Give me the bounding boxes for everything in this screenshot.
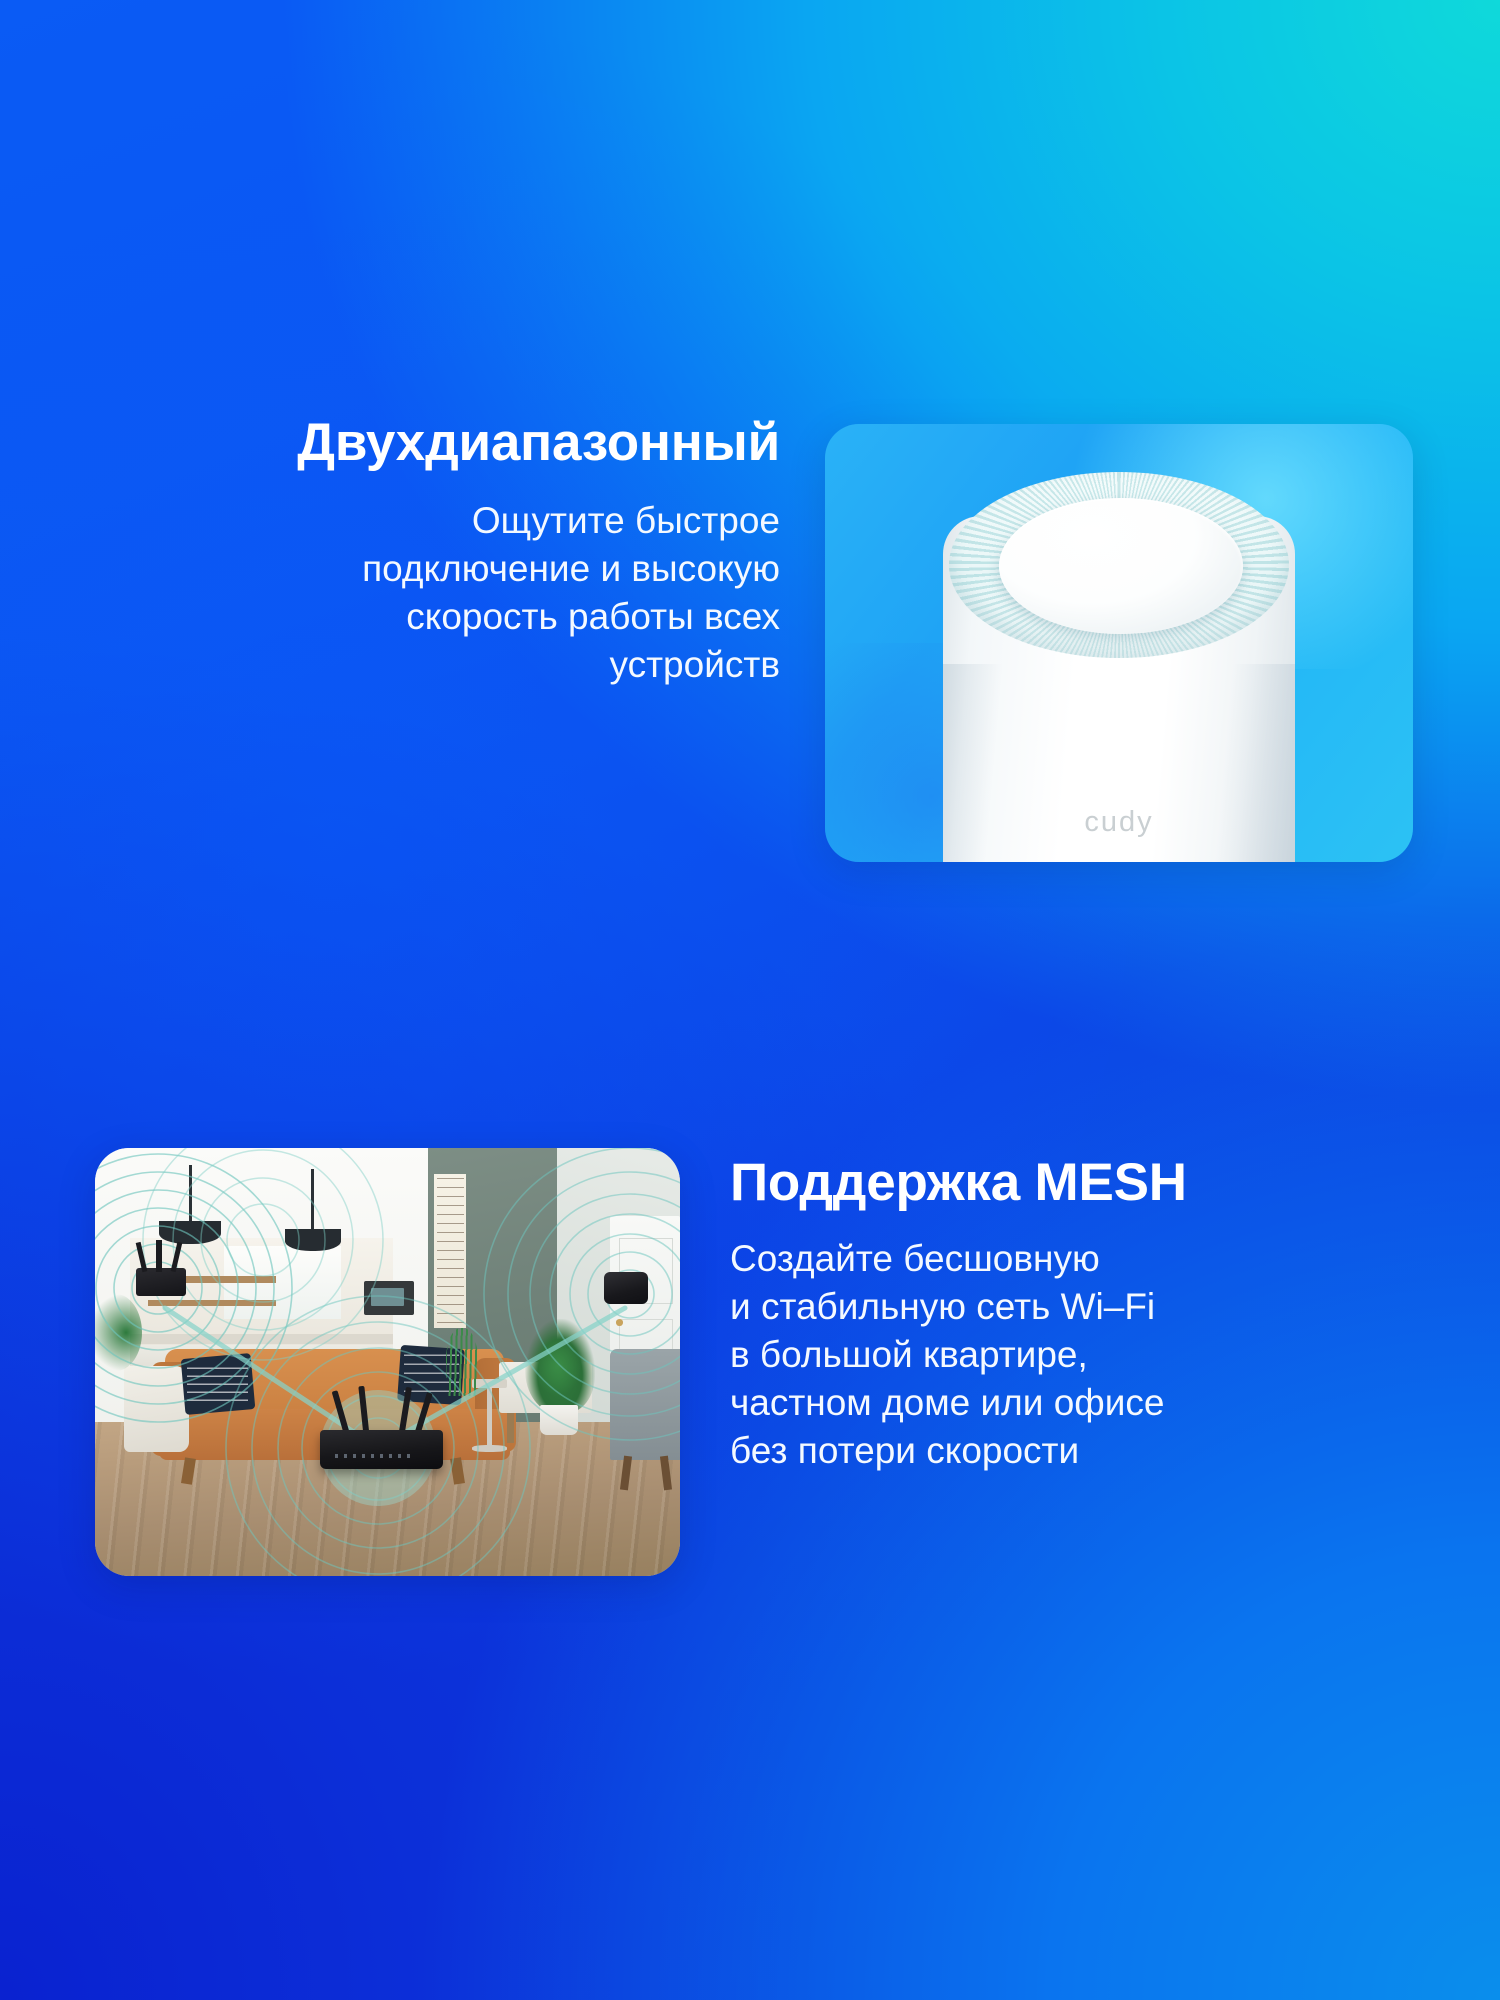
dual-band-body-line-2: подключение и высокую [362,548,780,589]
wifi-waves-overlay [95,1148,680,1576]
mesh-body-line-3: в большой квартире, [730,1334,1088,1375]
mesh-body: Создайте бесшовную и стабильную сеть Wi–… [730,1235,1390,1475]
background-glow [0,0,1500,2000]
mesh-body-line-4: частном доме или офисе [730,1382,1164,1423]
dual-band-body: Ощутите быстрое подключение и высокую ск… [140,497,780,689]
cudy-logo: cudy [943,806,1295,839]
router-main-led-strip [335,1454,411,1459]
wave-rings-router-top-left [95,1154,292,1422]
mesh-body-line-2: и стабильную сеть Wi–Fi [730,1286,1155,1327]
router-top-left-antenna-2 [156,1240,161,1272]
dual-band-text-block: Двухдиапазонный Ощутите быстрое подключе… [140,415,780,689]
mesh-text-block: Поддержка MESH Создайте бесшовную и стаб… [730,1155,1390,1475]
dual-band-body-line-1: Ощутите быстрое [472,500,780,541]
dual-band-body-line-3: скорость работы всех [406,596,780,637]
dual-band-body-line-4: устройств [610,644,780,685]
mesh-title: Поддержка MESH [730,1155,1390,1211]
mesh-body-line-5: без потери скорости [730,1430,1079,1471]
mesh-body-line-1: Создайте бесшовную [730,1238,1100,1279]
dual-band-title: Двухдиапазонный [140,415,780,471]
cylindrical-router-image: cudy [943,454,1295,862]
router-wall-mounted [604,1272,648,1304]
router-main [320,1430,443,1469]
wave-rings-router-wall-right [484,1148,680,1440]
product-photo-card: cudy [825,424,1413,862]
lifestyle-photo-card [95,1148,680,1576]
router-top-lid [999,498,1243,634]
